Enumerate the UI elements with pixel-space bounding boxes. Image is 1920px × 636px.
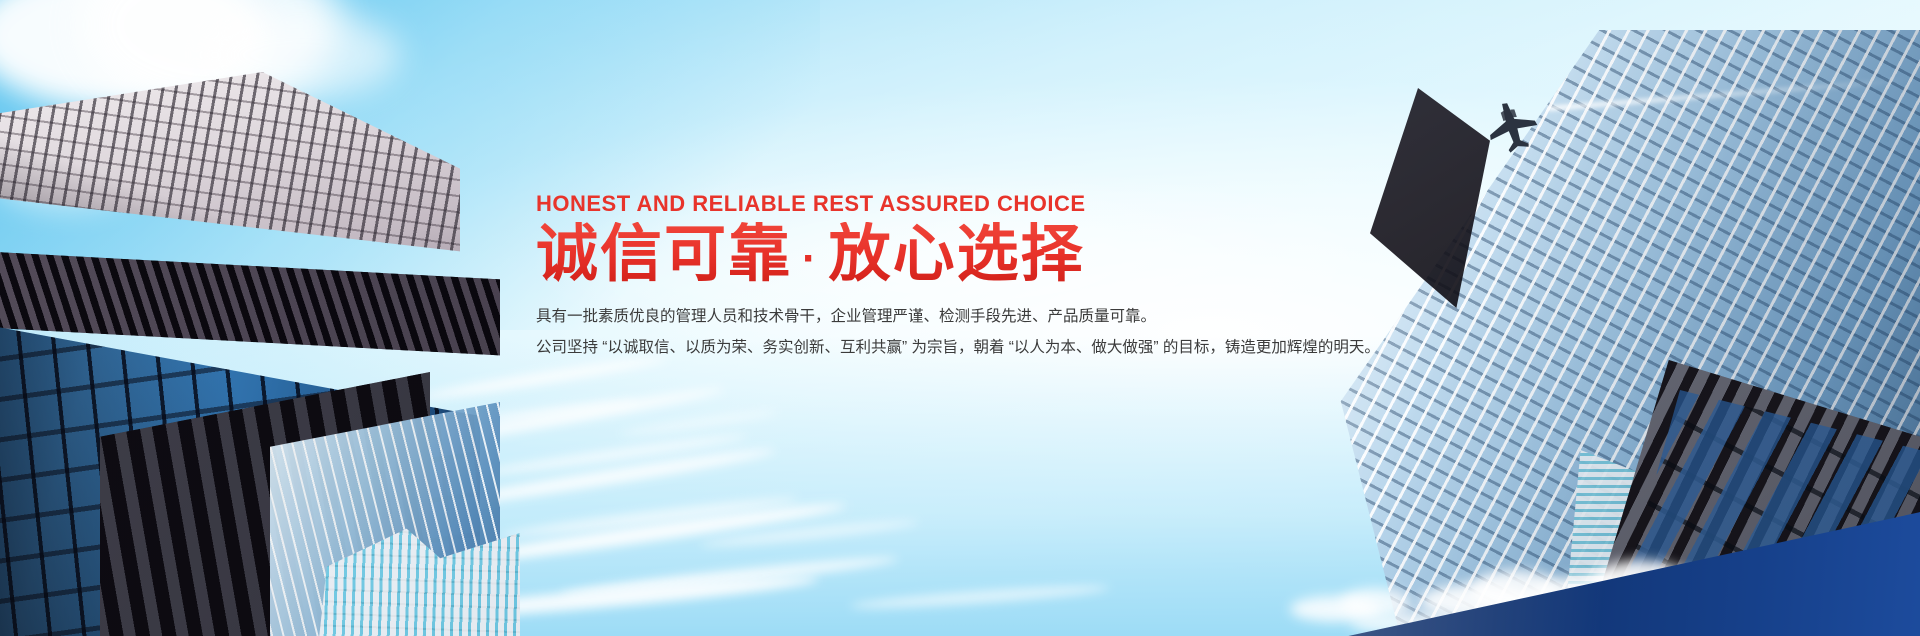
- left-building: [0, 72, 500, 636]
- headline-left: 诚信可靠: [536, 220, 792, 289]
- description-line-2: 公司坚持 “以诚取信、以质为荣、务实创新、互利共赢” 为宗旨，朝着 “以人为本、…: [536, 332, 1356, 363]
- english-tagline: HONEST AND RELIABLE REST ASSURED CHOICE: [536, 192, 1356, 216]
- hero-banner: HONEST AND RELIABLE REST ASSURED CHOICE …: [0, 0, 1920, 636]
- banner-copy: HONEST AND RELIABLE REST ASSURED CHOICE …: [536, 192, 1356, 363]
- headline-right: 放心选择: [829, 220, 1085, 289]
- description-line-1: 具有一批素质优良的管理人员和技术骨干，企业管理严谨、检测手段先进、产品质量可靠。: [536, 301, 1356, 332]
- page-title: 诚信可靠·放心选择: [536, 222, 1356, 289]
- headline-separator: ·: [792, 234, 829, 283]
